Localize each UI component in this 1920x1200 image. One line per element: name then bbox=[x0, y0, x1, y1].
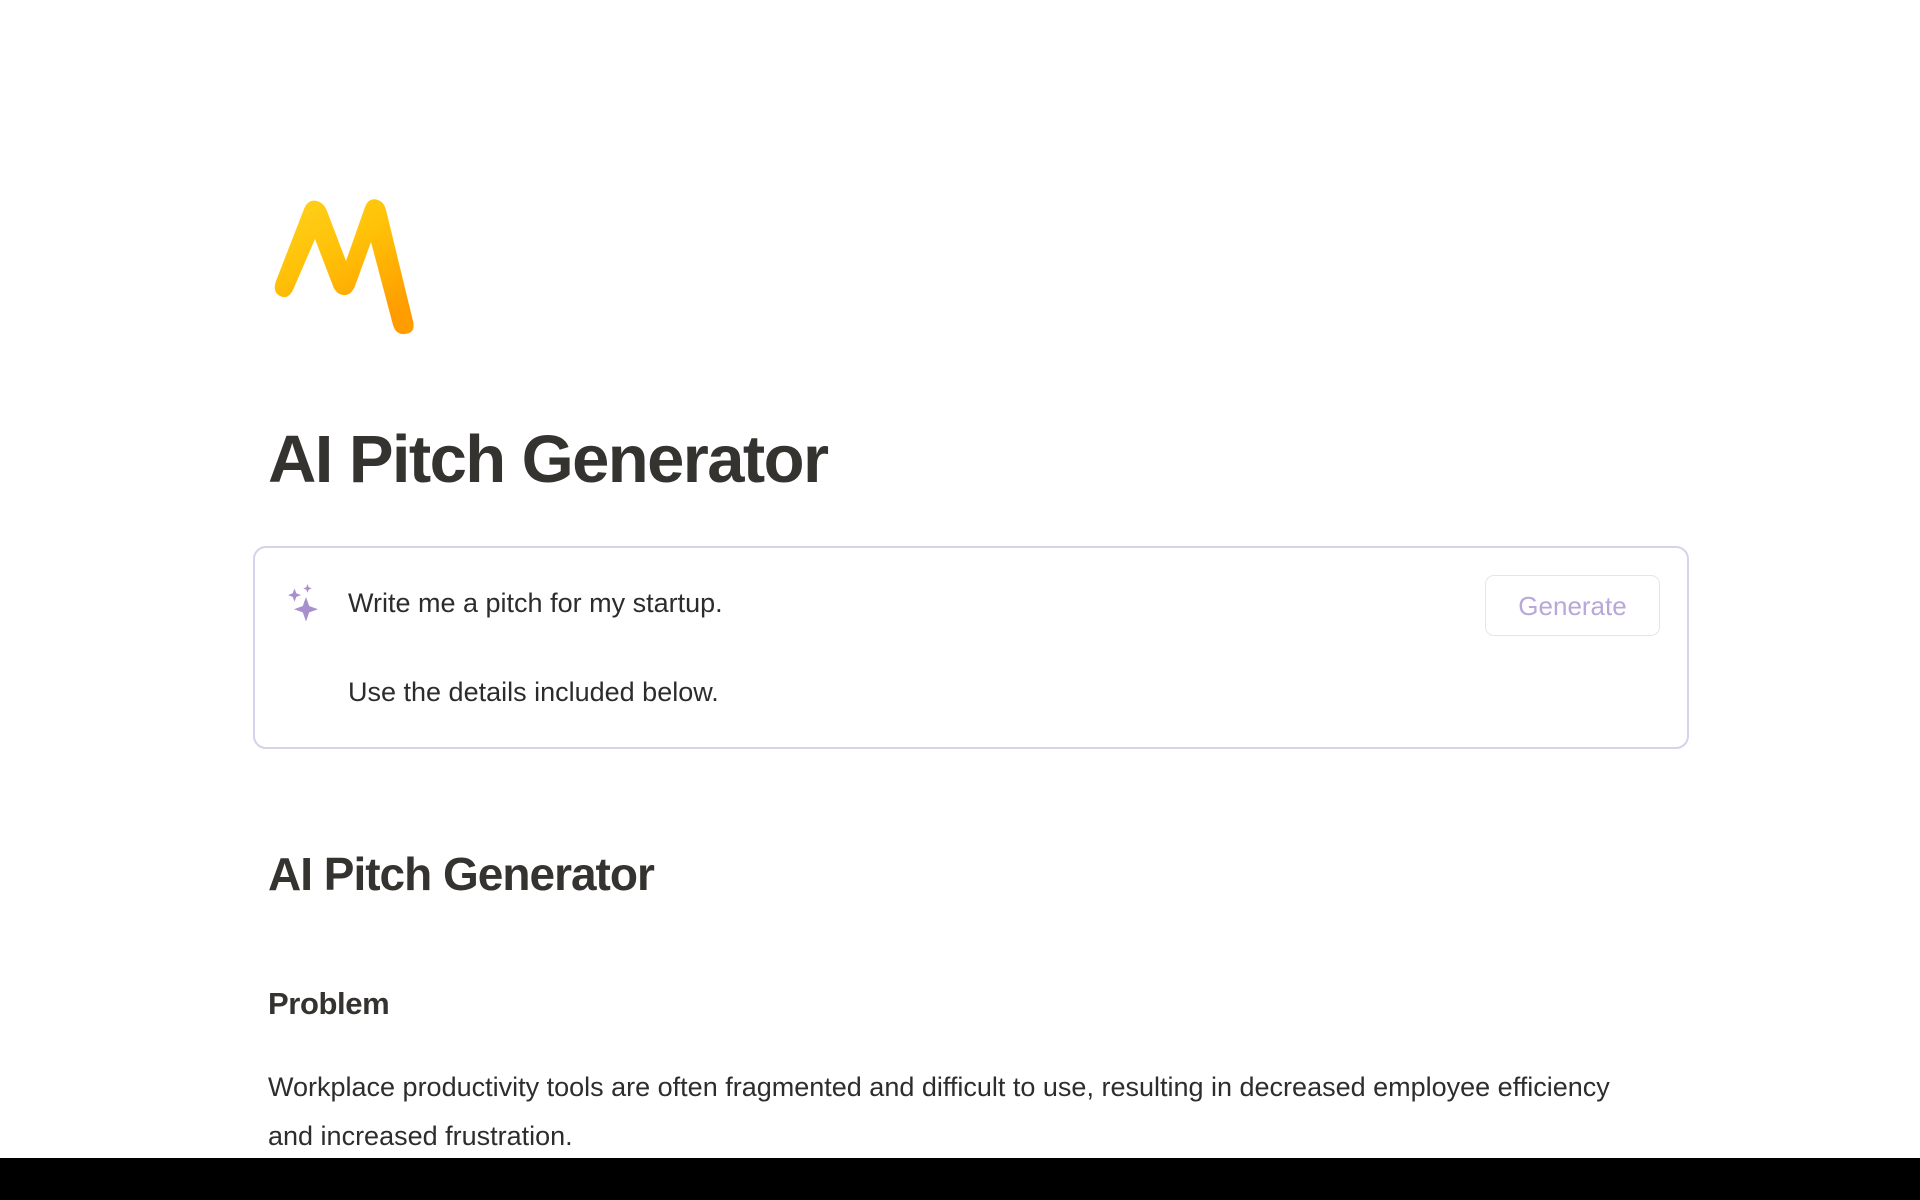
result-title: AI Pitch Generator bbox=[268, 849, 654, 900]
mountain-m-logo-icon bbox=[270, 193, 422, 335]
section-heading-problem: Problem bbox=[268, 986, 389, 1022]
prompt-text-line-2[interactable]: Use the details included below. bbox=[348, 676, 719, 709]
bottom-bar bbox=[0, 1158, 1920, 1200]
page-root: AI Pitch Generator Write me a pitch for … bbox=[0, 0, 1920, 1200]
sparkle-icon bbox=[281, 580, 327, 626]
prompt-card-inner: Write me a pitch for my startup. Use the… bbox=[255, 548, 1687, 747]
generate-button[interactable]: Generate bbox=[1485, 575, 1660, 636]
page-title: AI Pitch Generator bbox=[268, 424, 827, 496]
prompt-text-line-1[interactable]: Write me a pitch for my startup. bbox=[348, 580, 723, 626]
prompt-card[interactable]: Write me a pitch for my startup. Use the… bbox=[253, 546, 1689, 749]
section-body-problem: Workplace productivity tools are often f… bbox=[268, 1063, 1648, 1161]
app-logo[interactable] bbox=[270, 193, 422, 335]
